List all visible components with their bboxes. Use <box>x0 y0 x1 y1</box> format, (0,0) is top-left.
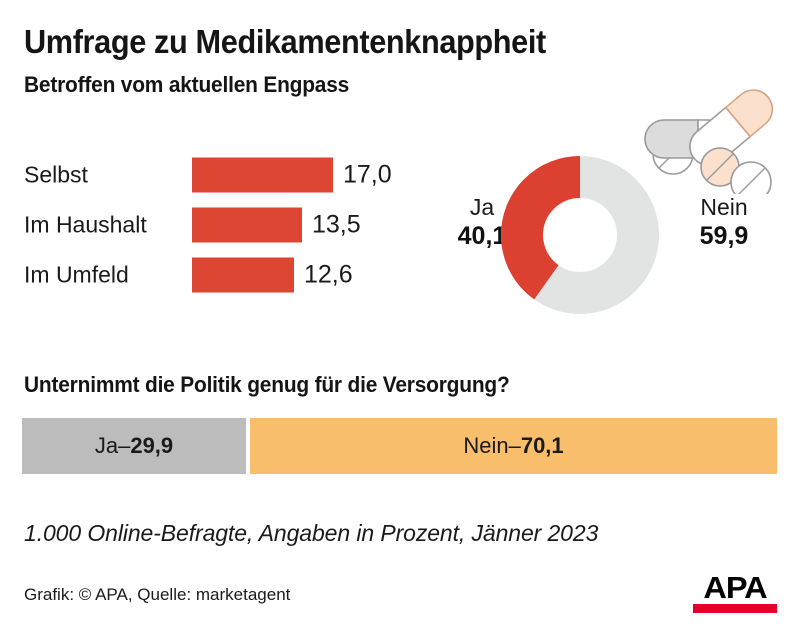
bar-fill-selbst <box>192 158 333 193</box>
section-subtitle-engpass: Betroffen vom aktuellen Engpass <box>24 72 349 98</box>
bar-fill-im-haushalt <box>192 208 302 243</box>
apa-logo: APA <box>693 572 777 612</box>
credit-line: Grafik: © APA, Quelle: marketagent <box>24 585 290 605</box>
bar-value-im-haushalt: 13,5 <box>312 211 361 240</box>
stacked-bar-politik: Ja – 29,9 Nein – 70,1 <box>22 418 777 474</box>
donut-label-nein: Nein 59,9 <box>674 194 774 251</box>
stacked-segment-ja-value: 29,9 <box>130 433 173 459</box>
stacked-segment-ja-separator: – <box>118 433 130 459</box>
apa-logo-bar <box>693 604 777 613</box>
survey-note: 1.000 Online-Befragte, Angaben in Prozen… <box>24 520 598 547</box>
stacked-segment-nein-label: Nein <box>463 433 508 459</box>
bar-label-selbst: Selbst <box>24 162 88 189</box>
stacked-segment-nein-separator: – <box>509 433 521 459</box>
table-row: Im Umfeld 12,6 <box>0 255 420 295</box>
bar-track-im-umfeld <box>192 258 294 293</box>
stacked-segment-nein-value: 70,1 <box>521 433 564 459</box>
bar-track-im-haushalt <box>192 208 302 243</box>
section-subtitle-politik: Unternimmt die Politik genug für die Ver… <box>24 372 510 398</box>
bar-label-im-umfeld: Im Umfeld <box>24 262 129 289</box>
stacked-segment-ja: Ja – 29,9 <box>22 418 246 474</box>
donut-chart-betroffen: Ja 40,1 Nein 59,9 <box>430 160 800 320</box>
bar-label-im-haushalt: Im Haushalt <box>24 212 147 239</box>
apa-logo-text: APA <box>691 572 779 603</box>
bar-fill-im-umfeld <box>192 258 294 293</box>
table-row: Im Haushalt 13,5 <box>0 205 420 245</box>
bar-value-im-umfeld: 12,6 <box>304 261 353 290</box>
bar-track-selbst <box>192 158 333 193</box>
donut-label-nein-text: Nein <box>674 194 774 221</box>
bar-chart-betroffen: Selbst 17,0 Im Haushalt 13,5 Im Umfeld 1… <box>0 155 420 305</box>
table-row: Selbst 17,0 <box>0 155 420 195</box>
bar-value-selbst: 17,0 <box>343 161 392 190</box>
stacked-segment-ja-label: Ja <box>95 433 118 459</box>
page-title: Umfrage zu Medikamentenknappheit <box>24 23 546 61</box>
donut-svg <box>500 155 660 315</box>
stacked-segment-nein: Nein – 70,1 <box>250 418 777 474</box>
donut-value-nein: 59,9 <box>674 221 774 251</box>
